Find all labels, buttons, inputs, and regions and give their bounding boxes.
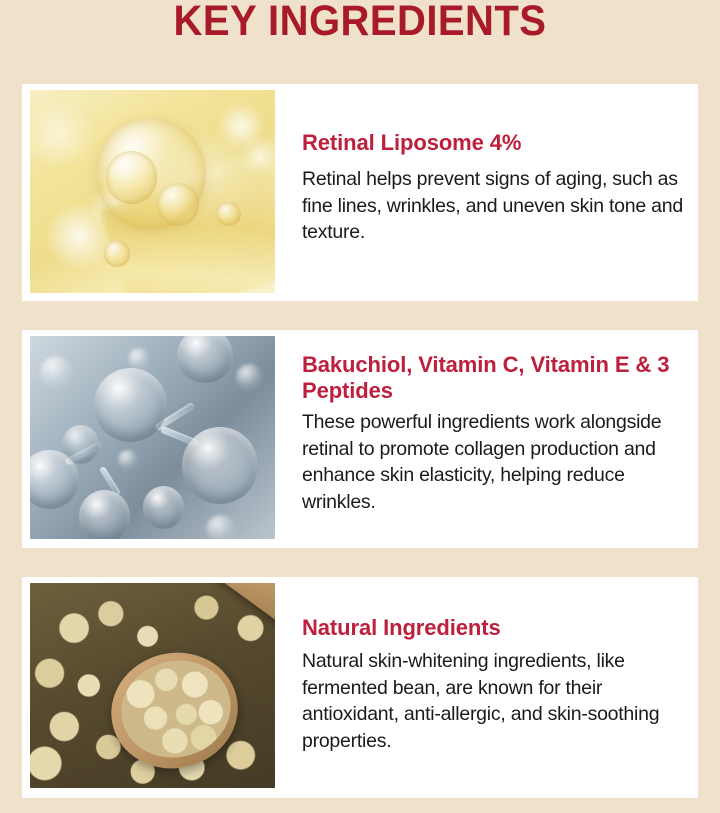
- card-body: These powerful ingredients work alongsid…: [302, 404, 688, 515]
- card-inner: Retinal Liposome 4% Retinal helps preven…: [30, 90, 688, 293]
- card-body: Natural skin-whitening ingredients, like…: [302, 641, 688, 754]
- card-heading: Natural Ingredients: [302, 615, 688, 641]
- ingredient-card: Bakuchiol, Vitamin C, Vitamin E & 3 Pept…: [22, 330, 698, 548]
- molecule-bokeh-d: [118, 450, 138, 470]
- oil-droplet-b: [157, 183, 199, 226]
- card-inner: Bakuchiol, Vitamin C, Vitamin E & 3 Pept…: [30, 336, 688, 539]
- page-title: KEY INGREDIENTS: [25, 0, 695, 44]
- card-heading: Retinal Liposome 4%: [302, 130, 688, 156]
- molecule-structure-photo: [30, 336, 275, 539]
- card-text: Bakuchiol, Vitamin C, Vitamin E & 3 Pept…: [302, 336, 688, 515]
- molecule-bokeh-c: [236, 364, 263, 390]
- molecule-bokeh-e: [206, 515, 235, 539]
- ingredient-card: Natural Ingredients Natural skin-whiteni…: [22, 577, 698, 798]
- molecule-sphere-a: [94, 368, 168, 441]
- card-inner: Natural Ingredients Natural skin-whiteni…: [30, 583, 688, 788]
- molecule-sphere-e: [79, 490, 130, 539]
- card-body: Retinal helps prevent signs of aging, su…: [302, 156, 688, 246]
- oil-droplet-d: [216, 202, 241, 226]
- card-text: Natural Ingredients Natural skin-whiteni…: [302, 583, 688, 754]
- molecule-sphere-f: [143, 486, 185, 529]
- soybeans-wooden-spoon-photo: [30, 583, 275, 788]
- card-text: Retinal Liposome 4% Retinal helps preven…: [302, 90, 688, 246]
- oil-droplet-a: [106, 151, 157, 204]
- oil-droplet-c: [104, 240, 131, 266]
- molecule-sphere-d: [177, 336, 233, 383]
- ingredient-card: Retinal Liposome 4% Retinal helps preven…: [22, 84, 698, 301]
- card-heading: Bakuchiol, Vitamin C, Vitamin E & 3 Pept…: [302, 352, 688, 404]
- molecule-sphere-b: [182, 427, 258, 504]
- molecule-bokeh-b: [128, 348, 150, 370]
- golden-liposome-droplets-photo: [30, 90, 275, 293]
- molecule-bokeh-a: [40, 356, 72, 388]
- wooden-spoon-handle: [195, 583, 275, 629]
